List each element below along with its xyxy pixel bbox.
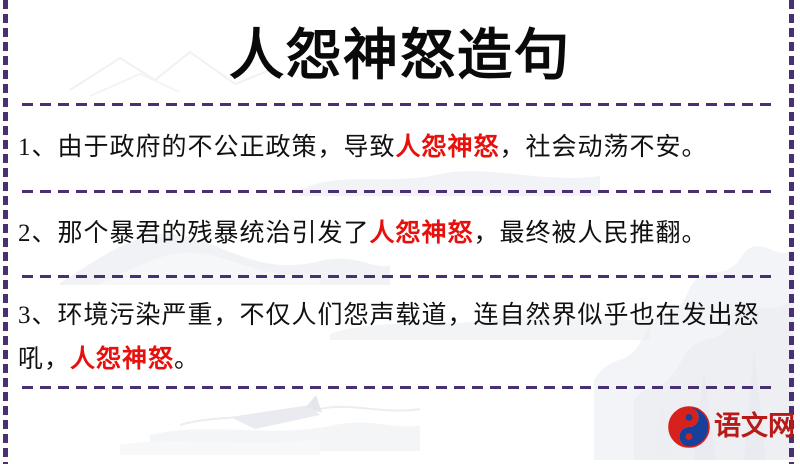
sentence-1-text-after: ，社会动荡不安。 [500, 134, 708, 161]
sentence-item-1: 1、由于政府的不公正政策，导致人怨神怒，社会动荡不安。 [18, 126, 784, 170]
yinyang-circle-icon [668, 406, 710, 448]
sentence-1-number: 1、 [18, 134, 58, 161]
slide-page: 人怨神怒造句 1、由于政府的不公正政策，导致人怨神怒，社会动荡不安。 2、那个暴… [0, 0, 800, 464]
separator-above-sentence-3 [22, 275, 778, 278]
sentence-2-text-before: 那个暴君的残暴统治引发了 [58, 220, 370, 247]
sentence-1-text-before: 由于政府的不公正政策，导致 [58, 134, 396, 161]
sentence-1-idiom-highlight: 人怨神怒 [396, 134, 500, 161]
separator-above-sentence-1 [22, 103, 778, 106]
sentence-3-text-after: 。 [174, 346, 200, 373]
sentence-2-number: 2、 [18, 220, 58, 247]
ink-wash-boat-decoration [120, 395, 420, 455]
sentence-item-2: 2、那个暴君的残暴统治引发了人怨神怒，最终被人民推翻。 [18, 212, 784, 256]
sentence-3-idiom-highlight: 人怨神怒 [70, 346, 174, 373]
separator-above-sentence-2 [22, 190, 778, 193]
page-title: 人怨神怒造句 [0, 18, 800, 92]
sentence-item-3: 3、环境污染严重，不仅人们怨声载道，连自然界似乎也在发出怒吼，人怨神怒。 [18, 294, 784, 382]
separator-below-sentence-3 [22, 386, 778, 389]
site-logo[interactable]: 语文网 [668, 406, 795, 448]
sentence-2-text-after: ，最终被人民推翻。 [474, 220, 708, 247]
sentence-3-number: 3、 [18, 302, 58, 329]
sentence-2-idiom-highlight: 人怨神怒 [370, 220, 474, 247]
logo-text: 语文网 [714, 412, 795, 442]
